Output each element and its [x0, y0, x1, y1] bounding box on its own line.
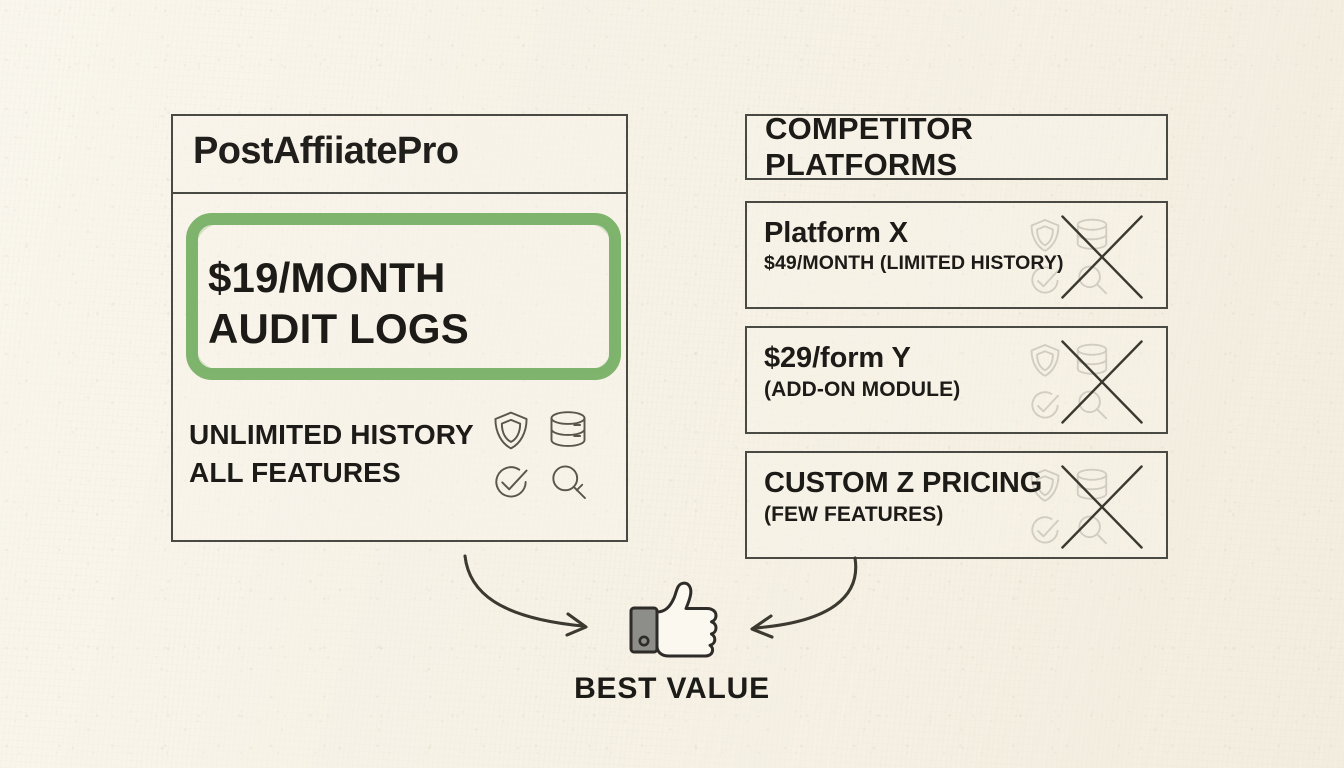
competitor-text-block: CUSTOM Z PRICING (FEW FEATURES): [764, 467, 1064, 528]
infographic-canvas: PostAffiiatePro $19/MONTH AUDIT LOGS UNL…: [0, 0, 1344, 768]
feature-line-1: UNLIMITED HISTORY: [189, 419, 474, 450]
competitor-header-label: COMPETITOR PLATFORMS: [747, 116, 1166, 178]
cross-out-icon: [1056, 461, 1148, 553]
competitor-name: CUSTOM Z PRICING: [764, 467, 1064, 499]
database-icon: [541, 406, 594, 454]
cross-out-icon: [1056, 211, 1148, 303]
competitor-detail: (FEW FEATURES): [764, 502, 1064, 527]
arrow-from-left-panel: [455, 548, 615, 643]
competitor-name: $29/form Y: [764, 342, 1064, 374]
competitor-detail: $49/MONTH (LIMITED HISTORY): [764, 252, 1064, 275]
feature-list: UNLIMITED HISTORY ALL FEATURES: [189, 416, 474, 492]
featured-feature-line: AUDIT LOGS: [208, 303, 608, 354]
cross-out-icon: [1056, 336, 1148, 428]
competitor-row: CUSTOM Z PRICING (FEW FEATURES): [745, 451, 1168, 559]
competitor-text-block: $29/form Y (ADD-ON MODULE): [764, 342, 1064, 403]
brand-title: PostAffiiatePro: [193, 130, 458, 173]
best-value-caption: BEST VALUE: [0, 672, 1344, 706]
arrow-from-right-panel: [735, 548, 900, 643]
feature-icon-grid: [484, 406, 594, 506]
competitor-panel-header: COMPETITOR PLATFORMS: [745, 114, 1168, 180]
featured-price-block: $19/MONTH AUDIT LOGS: [208, 252, 608, 354]
feature-line-2: ALL FEATURES: [189, 457, 401, 488]
competitor-text-block: Platform X $49/MONTH (LIMITED HISTORY): [764, 217, 1064, 276]
magnifier-icon: [541, 458, 594, 506]
brand-header: PostAffiiatePro: [171, 114, 628, 194]
competitor-name: Platform X: [764, 217, 1064, 249]
thumbs-up-icon: [625, 578, 723, 660]
check-circle-icon: [484, 458, 537, 506]
shield-icon: [484, 406, 537, 454]
competitor-detail: (ADD-ON MODULE): [764, 377, 1064, 402]
featured-price-line: $19/MONTH: [208, 254, 446, 301]
competitor-row: Platform X $49/MONTH (LIMITED HISTORY): [745, 201, 1168, 309]
competitor-row: $29/form Y (ADD-ON MODULE): [745, 326, 1168, 434]
